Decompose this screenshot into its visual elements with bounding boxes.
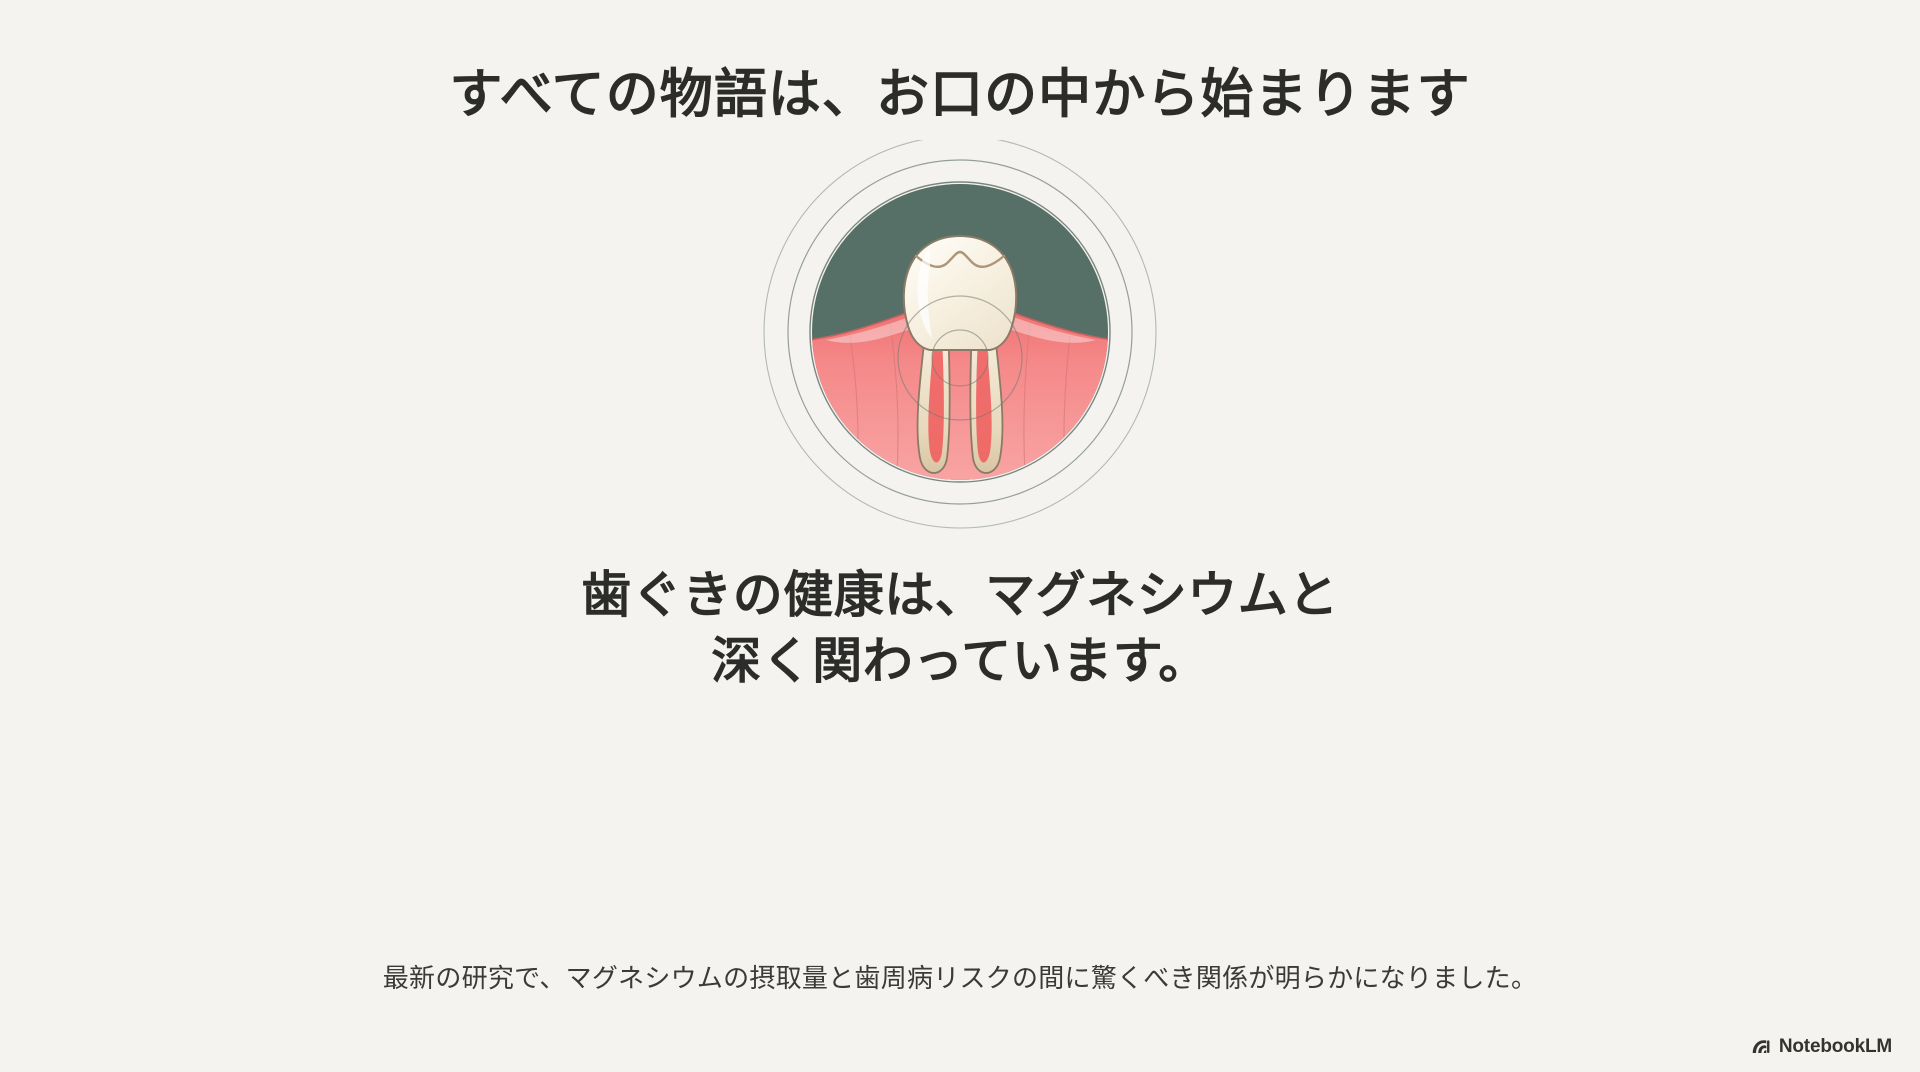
subtitle-text: 最新の研究で、マグネシウムの摂取量と歯周病リスクの間に驚くべき関係が明らかになり… bbox=[0, 958, 1920, 995]
tooth-illustration bbox=[680, 140, 1240, 540]
notebooklm-label: NotebookLM bbox=[1779, 1036, 1892, 1058]
notebooklm-watermark: NotebookLM bbox=[1750, 1036, 1892, 1058]
headline-line-2: 深く関わっています。 bbox=[581, 628, 1339, 694]
page-title: すべての物語は、お口の中から始まります bbox=[449, 62, 1470, 128]
tooth-and-gum-svg bbox=[730, 140, 1190, 540]
headline-line-1: 歯ぐきの健康は、マグネシウムと bbox=[581, 562, 1339, 628]
headline: 歯ぐきの健康は、マグネシウムと 深く関わっています。 bbox=[581, 562, 1339, 694]
slide-root: すべての物語は、お口の中から始まります bbox=[0, 0, 1920, 1072]
notebooklm-icon bbox=[1750, 1036, 1772, 1058]
